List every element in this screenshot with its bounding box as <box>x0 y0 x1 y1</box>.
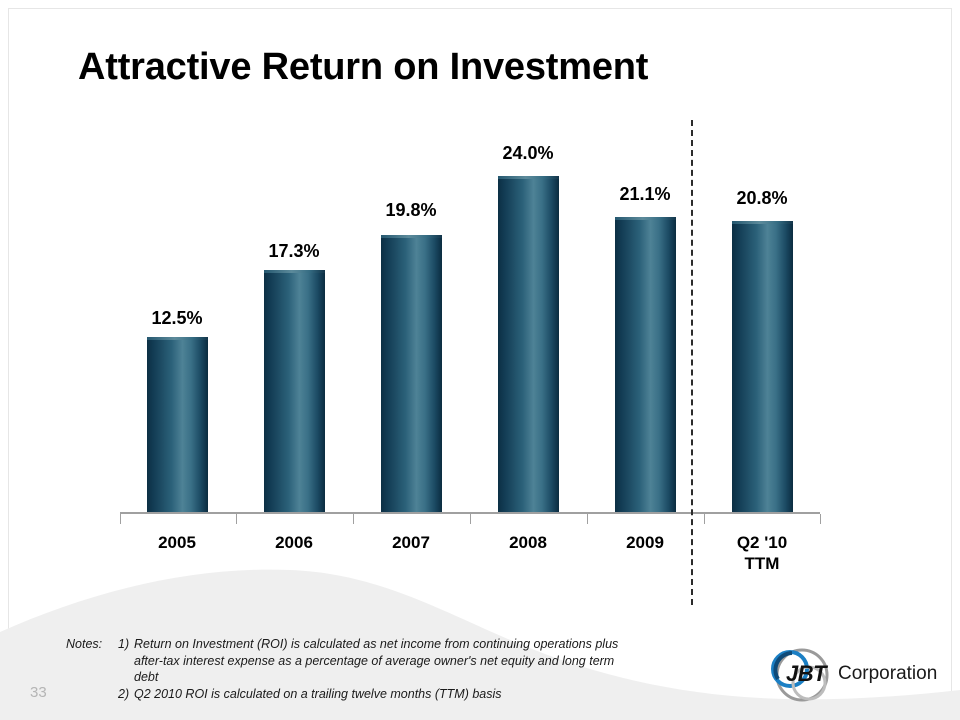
logo-brand-text: JBT <box>786 661 826 687</box>
category-label-q2-10-ttm: Q2 '10 TTM <box>702 532 822 574</box>
period-divider-dashed-line <box>691 120 693 605</box>
category-label-line-1: Q2 '10 <box>702 532 822 553</box>
bar-top-highlight <box>264 270 325 273</box>
value-label-q2-10-ttm: 20.8% <box>707 188 817 209</box>
value-label-2006: 17.3% <box>239 241 349 262</box>
bar-q2-10-ttm[interactable] <box>732 221 793 512</box>
axis-tick <box>120 514 121 524</box>
value-label-2009: 21.1% <box>590 184 700 205</box>
value-label-2008: 24.0% <box>473 143 583 164</box>
bar-2009[interactable] <box>615 217 676 512</box>
axis-tick <box>820 514 821 524</box>
bar-2007[interactable] <box>381 235 442 512</box>
value-label-2007: 19.8% <box>356 200 466 221</box>
bar-top-highlight <box>147 337 208 340</box>
footnote-text-1-line-3: debt <box>66 669 766 686</box>
bar-2008[interactable] <box>498 176 559 512</box>
category-label-2006: 2006 <box>234 532 354 553</box>
footnote-item-1: Notes: 1) Return on Investment (ROI) is … <box>66 636 766 653</box>
footnote-item-2: 2) Q2 2010 ROI is calculated on a traili… <box>66 686 766 703</box>
footnote-text-1-line-1: Return on Investment (ROI) is calculated… <box>134 636 766 653</box>
axis-tick <box>470 514 471 524</box>
bar-2006[interactable] <box>264 270 325 512</box>
value-label-2005: 12.5% <box>122 308 232 329</box>
axis-tick <box>353 514 354 524</box>
category-label-2008: 2008 <box>468 532 588 553</box>
footnote-text-1-line-2: after-tax interest expense as a percenta… <box>66 653 766 670</box>
page-number: 33 <box>30 684 47 701</box>
axis-tick <box>236 514 237 524</box>
footnote-text-2-line-1: Q2 2010 ROI is calculated on a trailing … <box>134 686 766 703</box>
footnote-number-2: 2) <box>118 686 134 703</box>
logo-suffix-text: Corporation <box>838 663 937 685</box>
axis-tick <box>704 514 705 524</box>
axis-tick <box>587 514 588 524</box>
bar-top-highlight <box>732 221 793 224</box>
slide: Attractive Return on Investment 1 <box>0 0 960 720</box>
category-label-line-2: TTM <box>702 553 822 574</box>
category-label-2005: 2005 <box>117 532 237 553</box>
bar-top-highlight <box>498 176 559 179</box>
notes-label: Notes: <box>66 636 118 653</box>
category-label-2007: 2007 <box>351 532 471 553</box>
bar-top-highlight <box>615 217 676 220</box>
roi-bar-chart: 12.5% 17.3% 19.8% 24.0% 21.1% 20.8% 2005… <box>0 0 960 720</box>
category-label-2009: 2009 <box>585 532 705 553</box>
footnote-number-1: 1) <box>118 636 134 653</box>
footnotes: Notes: 1) Return on Investment (ROI) is … <box>66 636 766 702</box>
bar-top-highlight <box>381 235 442 238</box>
bar-2005[interactable] <box>147 337 208 512</box>
